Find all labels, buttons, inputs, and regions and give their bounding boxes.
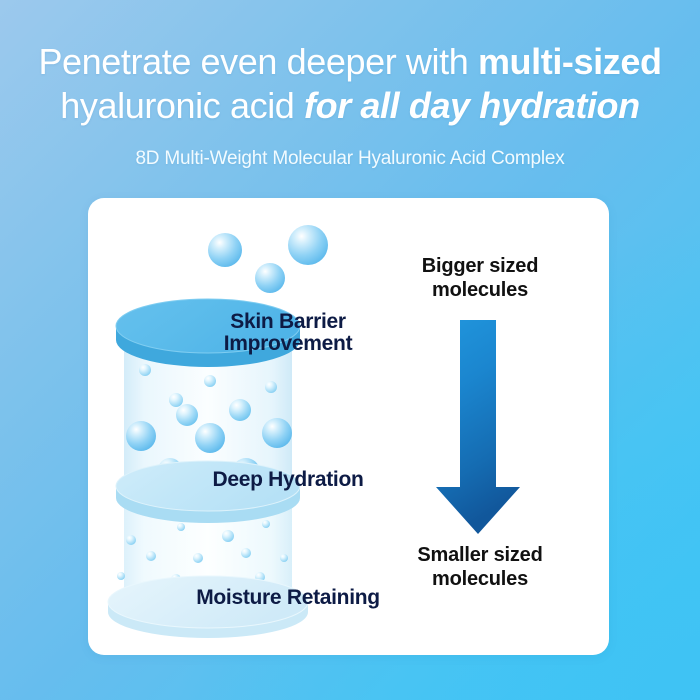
molecule-bubble xyxy=(262,418,292,448)
headline-line-2: hyaluronic acid for all day hydration xyxy=(0,84,700,128)
floating-bubbles xyxy=(208,225,328,293)
molecule-bubble xyxy=(241,548,251,558)
headline-line-2-bold-italic: for all day hydration xyxy=(304,85,640,126)
molecule-bubble xyxy=(193,553,203,563)
floating-bubble-right xyxy=(288,225,328,265)
size-gradient-arrow xyxy=(436,320,520,534)
molecule-bubble xyxy=(146,551,156,561)
molecule-bubble xyxy=(262,520,270,528)
headline-line-2-regular: hyaluronic acid xyxy=(60,85,304,126)
headline-line-1: Penetrate even deeper with multi-sized xyxy=(0,40,700,84)
molecule-bubble xyxy=(139,364,151,376)
headline-line-1-regular: Penetrate even deeper with xyxy=(38,41,478,82)
molecule-bubble xyxy=(117,572,125,580)
diagram-card: Skin Barrier Improvement Deep Hydration … xyxy=(88,198,609,655)
disk-skin-barrier xyxy=(116,299,300,367)
molecule-bubble xyxy=(204,375,216,387)
floating-bubble-middle xyxy=(255,263,285,293)
subtitle: 8D Multi-Weight Molecular Hyaluronic Aci… xyxy=(0,148,700,170)
molecule-bubble xyxy=(126,421,156,451)
molecule-bubble xyxy=(222,530,234,542)
disk-deep-hydration xyxy=(116,461,300,523)
floating-bubble-left xyxy=(208,233,242,267)
molecule-bubble xyxy=(126,535,136,545)
molecule-bubble xyxy=(280,554,288,562)
molecule-diagram xyxy=(88,198,609,655)
molecule-bubble xyxy=(169,393,183,407)
promo-banner: Penetrate even deeper with multi-sized h… xyxy=(0,0,700,700)
headline-line-1-bold: multi-sized xyxy=(478,41,662,82)
arrow-down-icon xyxy=(436,320,520,534)
molecule-bubble xyxy=(176,404,198,426)
headline: Penetrate even deeper with multi-sized h… xyxy=(0,40,700,128)
disk-moisture-retaining xyxy=(108,576,308,638)
molecule-bubble xyxy=(177,523,185,531)
molecule-bubble xyxy=(265,381,277,393)
molecule-bubble xyxy=(195,423,225,453)
molecule-bubble xyxy=(229,399,251,421)
